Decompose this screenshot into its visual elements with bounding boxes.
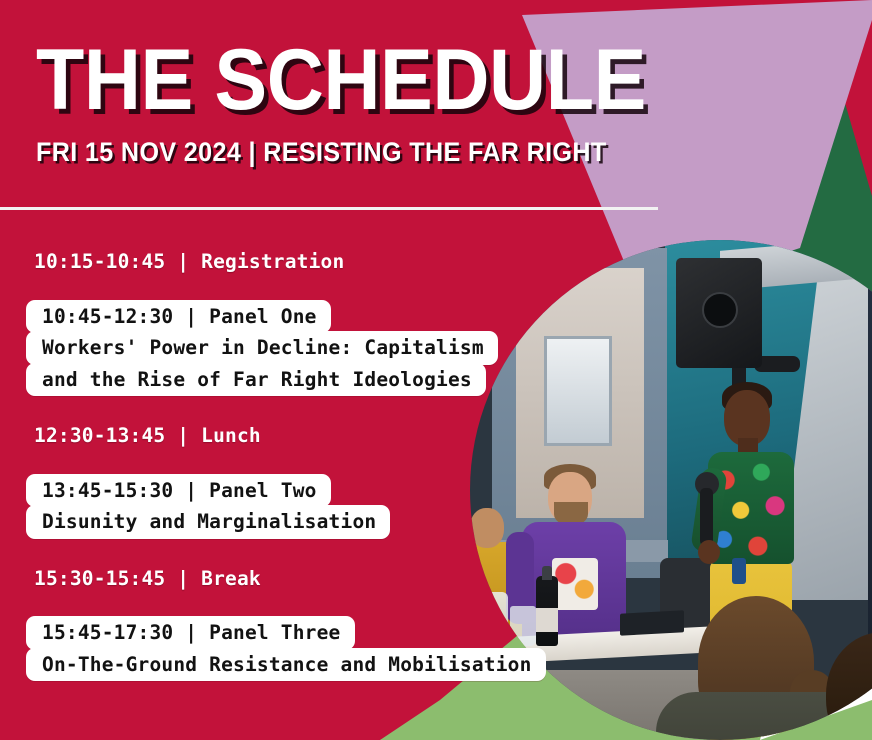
schedule-list: 10:15-10:45 | Registration10:45-12:30 | … [0, 248, 540, 707]
schedule-entry-detail: Disunity and Marginalisation [26, 505, 390, 539]
schedule-entry-detail: On-The-Ground Resistance and Mobilisatio… [26, 648, 546, 682]
schedule-entry: 10:15-10:45 | Registration [0, 248, 540, 276]
header-divider [0, 207, 658, 210]
schedule-entry: 13:45-15:30 | Panel TwoDisunity and Marg… [0, 474, 540, 539]
schedule-entry-detail: and the Rise of Far Right Ideologies [26, 363, 486, 397]
event-schedule-poster: THE SCHEDULE FRI 15 NOV 2024 | RESISTING… [0, 0, 872, 740]
schedule-entry-time-title: 10:15-10:45 | Registration [0, 248, 344, 276]
schedule-entry: 15:30-15:45 | Break [0, 565, 540, 593]
poster-header: THE SCHEDULE FRI 15 NOV 2024 | RESISTING… [36, 40, 699, 168]
schedule-entry: 12:30-13:45 | Lunch [0, 422, 540, 450]
schedule-entry-detail: Workers' Power in Decline: Capitalism [26, 331, 498, 365]
schedule-entry: 10:45-12:30 | Panel OneWorkers' Power in… [0, 300, 540, 397]
schedule-entry-time-title: 10:45-12:30 | Panel One [26, 300, 331, 334]
schedule-entry-time-title: 15:45-17:30 | Panel Three [26, 616, 355, 650]
schedule-entry: 15:45-17:30 | Panel ThreeOn-The-Ground R… [0, 616, 540, 681]
schedule-entry-time-title: 15:30-15:45 | Break [0, 565, 261, 593]
poster-subtitle: FRI 15 NOV 2024 | RESISTING THE FAR RIGH… [36, 137, 653, 168]
schedule-entry-time-title: 13:45-15:30 | Panel Two [26, 474, 331, 508]
page-title: THE SCHEDULE [36, 40, 646, 121]
schedule-entry-time-title: 12:30-13:45 | Lunch [0, 422, 261, 450]
